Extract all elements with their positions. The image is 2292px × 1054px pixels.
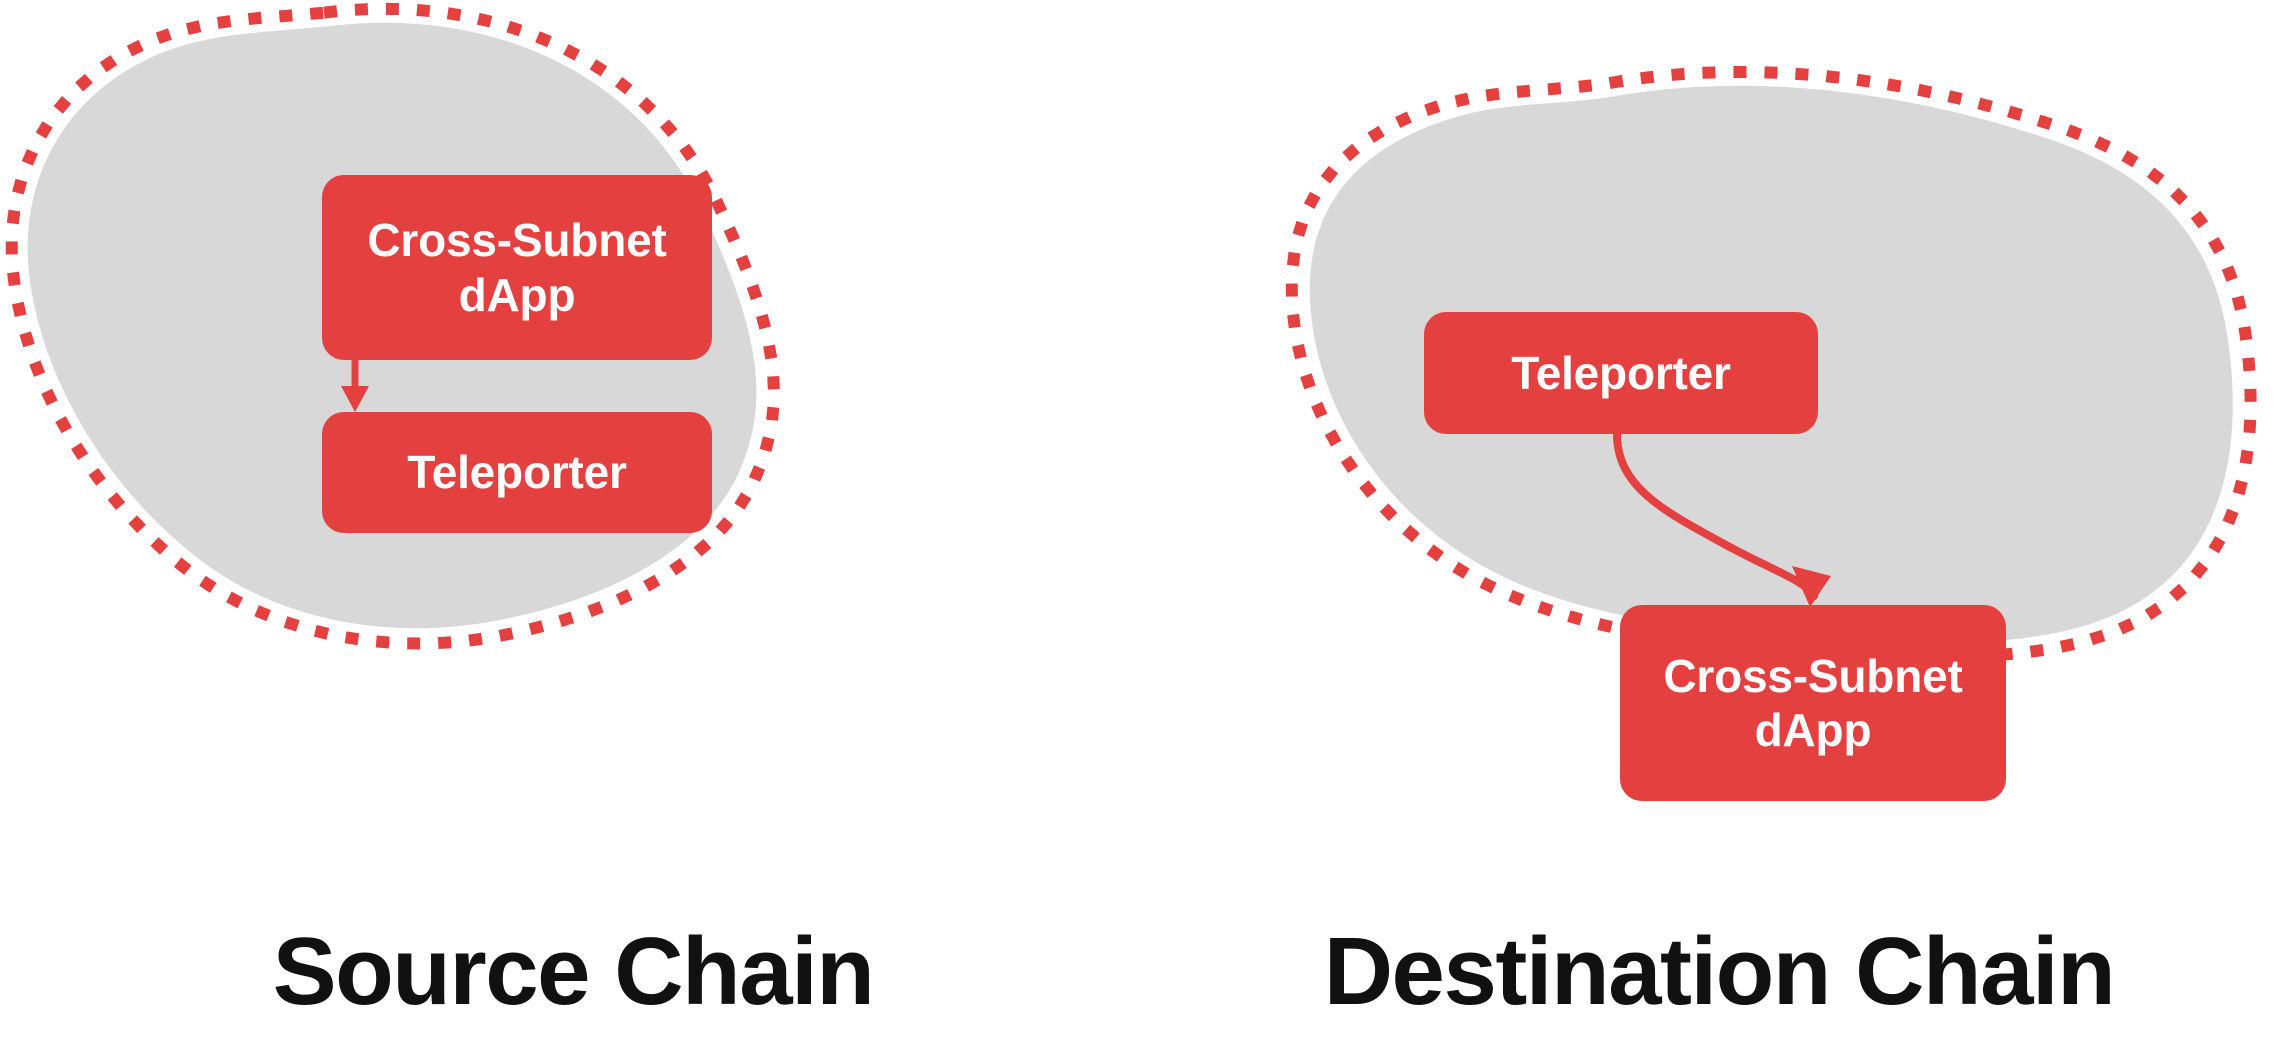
- panel-destination-chain: Teleporter Cross-Subnet dApp Destination…: [1146, 0, 2292, 1054]
- destination-chain-blob-svg: [1146, 0, 2292, 1054]
- node-source-cross-subnet-dapp[interactable]: Cross-Subnet dApp: [322, 175, 712, 360]
- node-destination-cross-subnet-dapp[interactable]: Cross-Subnet dApp: [1620, 605, 2006, 801]
- panel-source-chain: Cross-Subnet dApp Teleporter Source Chai…: [0, 0, 1146, 1054]
- node-destination-teleporter[interactable]: Teleporter: [1424, 312, 1818, 434]
- label-source-chain: Source Chain: [0, 916, 1146, 1028]
- label-destination-chain: Destination Chain: [1146, 916, 2292, 1028]
- diagram-canvas: Cross-Subnet dApp Teleporter Source Chai…: [0, 0, 2292, 1054]
- node-source-teleporter[interactable]: Teleporter: [322, 412, 712, 533]
